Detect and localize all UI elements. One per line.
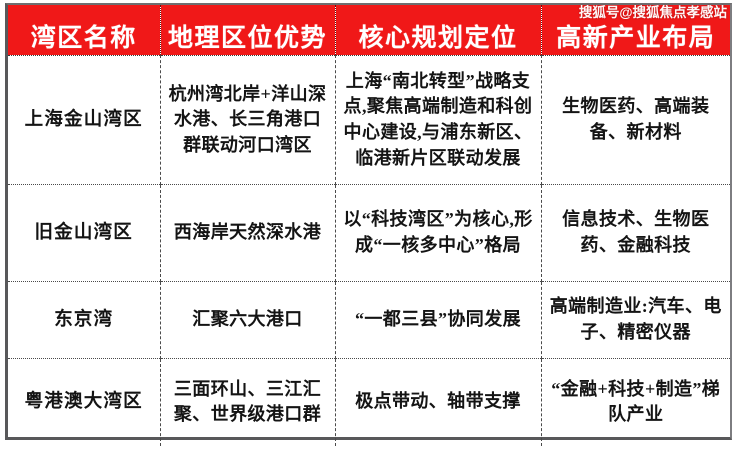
- cell-text: 极点带动、轴带支撑: [343, 389, 534, 415]
- cell-text: 三面环山、三江汇聚、世界级港口群: [168, 377, 328, 428]
- cell-bay-name: 粤港澳大湾区: [8, 359, 160, 446]
- cell-core-planning: 极点带动、轴带支撑: [335, 359, 541, 446]
- table-header-row: 湾区名称 地理区位优势 核心规划定位 搜狐号@搜狐焦点孝感站 高新产业布局: [8, 5, 730, 56]
- cell-core-planning: “一都三县”协同发展: [335, 282, 541, 359]
- cell-text: “金融+科技+制造”梯队产业: [549, 377, 724, 428]
- cell-hightech-industry: “金融+科技+制造”梯队产业: [541, 359, 730, 446]
- table-row: 旧金山湾区 西海岸天然深水港 以“科技湾区”为核心,形成“一核多中心”格局 信息…: [8, 185, 730, 282]
- column-header-hightech-industry-label: 高新产业布局: [544, 26, 729, 52]
- column-header-hightech-industry: 搜狐号@搜狐焦点孝感站 高新产业布局: [541, 5, 730, 56]
- cell-core-planning: 上海“南北转型”战略支点,聚焦高端制造和科创中心建设,与浦东新区、临港新片区联动…: [335, 56, 541, 185]
- cell-geographic-advantage: 西海岸天然深水港: [160, 185, 335, 282]
- table-row: 上海金山湾区 杭州湾北岸+洋山深水港、长三角港口群联动河口湾区 上海“南北转型”…: [8, 56, 730, 185]
- cell-text: 汇聚六大港口: [168, 307, 328, 333]
- cell-geographic-advantage: 三面环山、三江汇聚、世界级港口群: [160, 359, 335, 446]
- cell-hightech-industry: 生物医药、高端装备、新材料: [541, 56, 730, 185]
- comparison-table-container: 湾区名称 地理区位优势 核心规划定位 搜狐号@搜狐焦点孝感站 高新产业布局 上海…: [5, 3, 732, 440]
- bay-area-comparison-table: 湾区名称 地理区位优势 核心规划定位 搜狐号@搜狐焦点孝感站 高新产业布局 上海…: [8, 5, 730, 446]
- table-body: 上海金山湾区 杭州湾北岸+洋山深水港、长三角港口群联动河口湾区 上海“南北转型”…: [8, 56, 730, 446]
- cell-text: 信息技术、生物医药、金融科技: [549, 207, 724, 258]
- table-header: 湾区名称 地理区位优势 核心规划定位 搜狐号@搜狐焦点孝感站 高新产业布局: [8, 5, 730, 56]
- cell-text: 粤港澳大湾区: [15, 389, 153, 415]
- watermark-text: 搜狐号@搜狐焦点孝感站: [545, 6, 728, 20]
- column-header-core-planning: 核心规划定位: [335, 5, 541, 56]
- column-header-bay-name-label: 湾区名称: [10, 26, 158, 52]
- column-header-bay-name: 湾区名称: [8, 5, 160, 56]
- cell-text: 东京湾: [15, 307, 153, 333]
- column-header-geographic-advantage: 地理区位优势: [160, 5, 335, 56]
- cell-bay-name: 上海金山湾区: [8, 56, 160, 185]
- cell-text: 杭州湾北岸+洋山深水港、长三角港口群联动河口湾区: [168, 82, 328, 159]
- cell-text: 高端制造业:汽车、电子、精密仪器: [549, 294, 724, 345]
- cell-text: 旧金山湾区: [15, 220, 153, 246]
- cell-text: 生物医药、高端装备、新材料: [549, 94, 724, 145]
- cell-bay-name: 旧金山湾区: [8, 185, 160, 282]
- cell-geographic-advantage: 汇聚六大港口: [160, 282, 335, 359]
- cell-core-planning: 以“科技湾区”为核心,形成“一核多中心”格局: [335, 185, 541, 282]
- cell-hightech-industry: 高端制造业:汽车、电子、精密仪器: [541, 282, 730, 359]
- cell-geographic-advantage: 杭州湾北岸+洋山深水港、长三角港口群联动河口湾区: [160, 56, 335, 185]
- table-row: 粤港澳大湾区 三面环山、三江汇聚、世界级港口群 极点带动、轴带支撑 “金融+科技…: [8, 359, 730, 446]
- cell-text: 以“科技湾区”为核心,形成“一核多中心”格局: [343, 207, 534, 258]
- column-header-geographic-advantage-label: 地理区位优势: [163, 26, 333, 52]
- cell-text: “一都三县”协同发展: [343, 307, 534, 333]
- cell-bay-name: 东京湾: [8, 282, 160, 359]
- cell-text: 上海金山湾区: [15, 107, 153, 133]
- cell-text: 西海岸天然深水港: [168, 220, 328, 246]
- cell-hightech-industry: 信息技术、生物医药、金融科技: [541, 185, 730, 282]
- column-header-core-planning-label: 核心规划定位: [338, 26, 539, 52]
- table-row: 东京湾 汇聚六大港口 “一都三县”协同发展 高端制造业:汽车、电子、精密仪器: [8, 282, 730, 359]
- cell-text: 上海“南北转型”战略支点,聚焦高端制造和科创中心建设,与浦东新区、临港新片区联动…: [343, 69, 534, 171]
